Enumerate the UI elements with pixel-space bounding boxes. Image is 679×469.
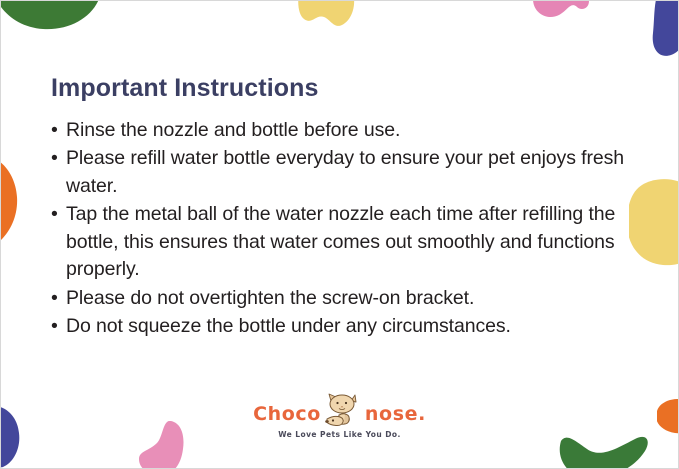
blob-top-center-yellow [298, 0, 358, 35]
list-item-text: Rinse the nozzle and bottle before use. [66, 119, 400, 141]
blob-top-left-green [0, 0, 111, 47]
blob-top-right-navy [651, 0, 679, 63]
list-item-text: Please do not overtighten the screw-on b… [66, 287, 474, 309]
instructions-list: • Rinse the nozzle and bottle before use… [51, 117, 631, 341]
bullet-glyph: • [51, 313, 58, 341]
bullet-glyph: • [51, 201, 58, 229]
instructions-content: Important Instructions • Rinse the nozzl… [51, 75, 631, 342]
bullet-glyph: • [51, 145, 58, 173]
list-item-text: Tap the metal ball of the water nozzle e… [66, 203, 615, 280]
logo-word-choco: Choco [253, 405, 321, 424]
list-item: • Please do not overtighten the screw-on… [51, 285, 631, 313]
logo-word-nose: nose. [365, 405, 426, 424]
brand-logo: Choco [1, 393, 678, 439]
blob-left-orange [0, 153, 23, 257]
cat-and-dog-icon [322, 393, 362, 427]
list-item: • Do not squeeze the bottle under any ci… [51, 313, 631, 341]
blob-right-yellow [629, 179, 679, 271]
list-item: • Tap the metal ball of the water nozzle… [51, 201, 631, 284]
instructions-card: Important Instructions • Rinse the nozzl… [0, 0, 679, 469]
list-item: • Rinse the nozzle and bottle before use… [51, 117, 631, 145]
logo-tagline: We Love Pets Like You Do. [278, 430, 401, 439]
bullet-glyph: • [51, 117, 58, 145]
bullet-glyph: • [51, 285, 58, 313]
blob-bottom-right-green [557, 435, 653, 469]
logo-wordmark-row: Choco [253, 393, 426, 427]
list-item-text: Do not squeeze the bottle under any circ… [66, 315, 511, 337]
page-title: Important Instructions [51, 75, 631, 103]
list-item: • Please refill water bottle everyday to… [51, 145, 631, 200]
blob-top-right-pink [533, 0, 595, 33]
list-item-text: Please refill water bottle everyday to e… [66, 147, 624, 197]
